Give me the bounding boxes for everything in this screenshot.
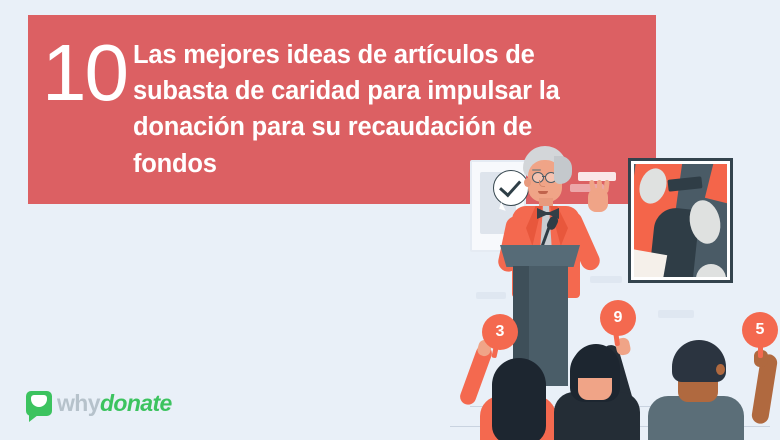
bid-paddle-3[interactable]: 3 (482, 314, 518, 350)
logo-text-donate: donate (100, 390, 172, 417)
logo-text-why: why (57, 390, 100, 417)
speech-bubble-smile-icon (26, 391, 52, 416)
bidder-3: 5 (638, 320, 780, 440)
whydonate-logo[interactable]: whydonate (26, 388, 172, 418)
podium (500, 245, 580, 267)
auction-illustration: 3 9 5 (440, 150, 780, 440)
list-number: 10 (42, 33, 127, 113)
bid-paddle-9[interactable]: 9 (600, 300, 636, 336)
blog-cover-graphic: 10 Las mejores ideas de artículos de sub… (0, 0, 780, 440)
bid-paddle-5[interactable]: 5 (742, 312, 778, 348)
